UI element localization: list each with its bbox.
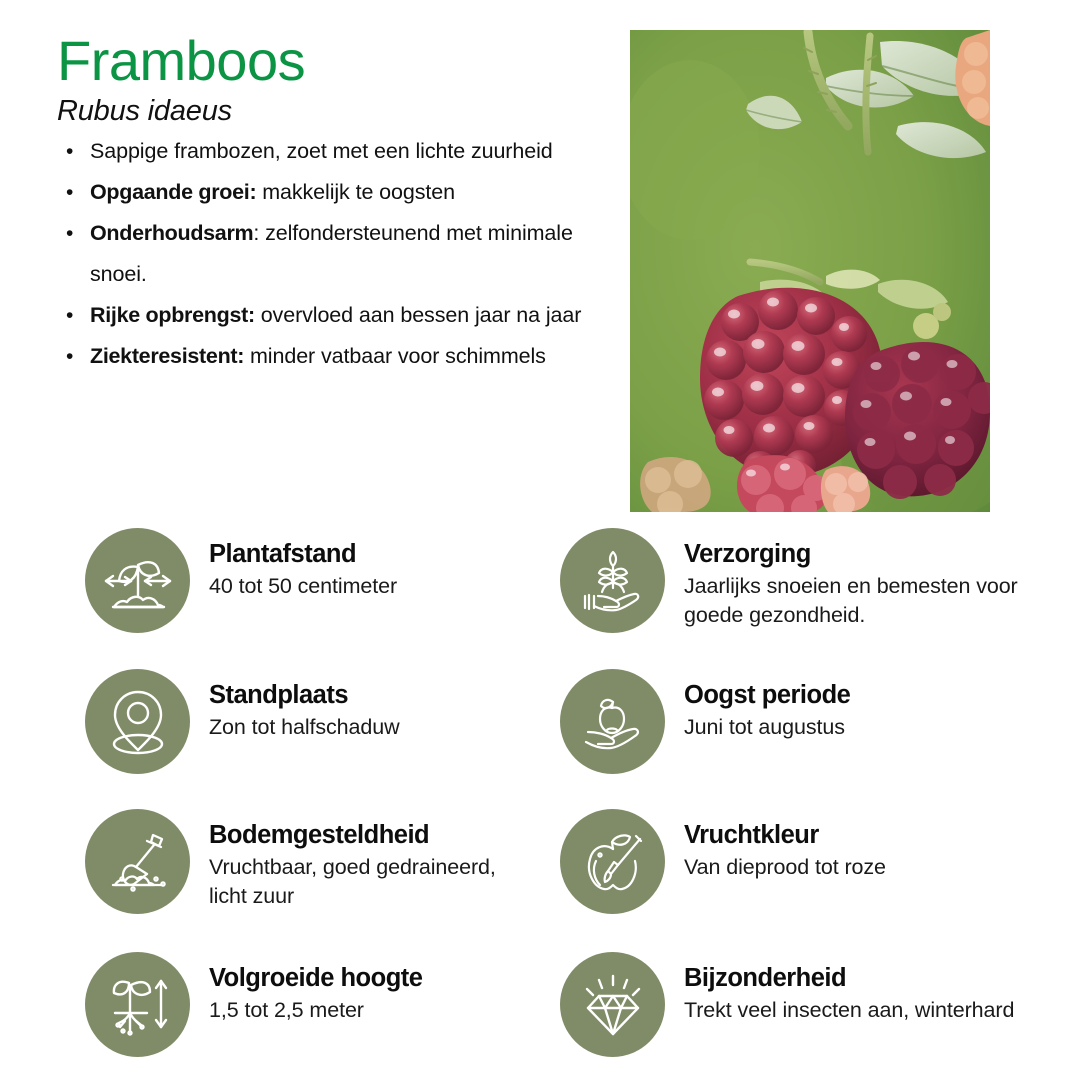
page-title: Framboos (57, 30, 617, 92)
list-item-text: overvloed aan bessen jaar na jaar (255, 303, 581, 327)
location-pin-icon (85, 669, 190, 774)
feature-title: Bijzonderheid (684, 963, 1014, 994)
feature-text: Plantafstand 40 tot 50 centimeter (209, 528, 397, 601)
botanical-name: Rubus idaeus (57, 92, 617, 130)
list-item: Ziekteresistent: minder vatbaar voor sch… (62, 336, 607, 377)
plant-height-icon (85, 952, 190, 1057)
feature-title: Oogst periode (684, 680, 850, 711)
feature-grid: Plantafstand 40 tot 50 centimeter Standp… (0, 524, 1080, 1080)
list-item-lead: Opgaande groei: (90, 180, 256, 204)
list-item-text: Sappige frambozen, zoet met een lichte z… (90, 139, 553, 163)
feature-title: Vruchtkleur (684, 820, 886, 851)
feature-title: Standplaats (209, 680, 400, 711)
list-item-lead: Rijke opbrengst: (90, 303, 255, 327)
plant-photo (630, 30, 990, 512)
list-item: Opgaande groei: makkelijk te oogsten (62, 172, 607, 213)
highlight-list: Sappige frambozen, zoet met een lichte z… (62, 131, 607, 377)
diamond-sparkle-icon (560, 952, 665, 1057)
feature-title: Bodemgesteldheid (209, 820, 539, 851)
hand-plant-care-icon (560, 528, 665, 633)
feature-desc: 1,5 tot 2,5 meter (209, 996, 422, 1025)
feature-text: Volgroeide hoogte 1,5 tot 2,5 meter (209, 952, 422, 1025)
feature-title: Plantafstand (209, 539, 397, 570)
feature-bodemgesteldheid: Bodemgesteldheid Vruchtbaar, goed gedrai… (85, 809, 539, 914)
feature-plantafstand: Plantafstand 40 tot 50 centimeter (85, 528, 397, 633)
feature-desc: Jaarlijks snoeien en bemesten voor goede… (684, 572, 1054, 630)
feature-text: Bijzonderheid Trekt veel insecten aan, w… (684, 952, 1014, 1025)
feature-desc: Juni tot augustus (684, 713, 850, 742)
feature-desc: Van dieprood tot roze (684, 853, 886, 882)
apple-paintbrush-icon (560, 809, 665, 914)
feature-desc: 40 tot 50 centimeter (209, 572, 397, 601)
list-item: Onderhoudsarm: zelfondersteunend met min… (62, 213, 607, 295)
feature-text: Verzorging Jaarlijks snoeien en bemesten… (684, 528, 1054, 630)
feature-volgroeide-hoogte: Volgroeide hoogte 1,5 tot 2,5 meter (85, 952, 422, 1057)
feature-oogst-periode: Oogst periode Juni tot augustus (560, 669, 850, 774)
feature-title: Verzorging (684, 539, 1054, 570)
feature-standplaats: Standplaats Zon tot halfschaduw (85, 669, 400, 774)
feature-verzorging: Verzorging Jaarlijks snoeien en bemesten… (560, 528, 1054, 633)
list-item-lead: Onderhoudsarm (90, 221, 253, 245)
seedling-spacing-icon (85, 528, 190, 633)
feature-text: Oogst periode Juni tot augustus (684, 669, 850, 742)
hand-fruit-harvest-icon (560, 669, 665, 774)
list-item-lead: Ziekteresistent: (90, 344, 244, 368)
list-item-text: minder vatbaar voor schimmels (244, 344, 546, 368)
plant-header: Framboos Rubus idaeus (57, 30, 617, 130)
feature-bijzonderheid: Bijzonderheid Trekt veel insecten aan, w… (560, 952, 1014, 1057)
list-item: Rijke opbrengst: overvloed aan bessen ja… (62, 295, 607, 336)
shovel-soil-icon (85, 809, 190, 914)
list-item-text: makkelijk te oogsten (256, 180, 455, 204)
list-item: Sappige frambozen, zoet met een lichte z… (62, 131, 607, 172)
feature-text: Standplaats Zon tot halfschaduw (209, 669, 400, 742)
feature-desc: Zon tot halfschaduw (209, 713, 400, 742)
plant-info-card: Framboos Rubus idaeus Sappige frambozen,… (0, 0, 1080, 1080)
feature-desc: Trekt veel insecten aan, winterhard (684, 996, 1014, 1025)
feature-title: Volgroeide hoogte (209, 963, 422, 994)
feature-desc: Vruchtbaar, goed gedraineerd, licht zuur (209, 853, 539, 911)
feature-text: Vruchtkleur Van dieprood tot roze (684, 809, 886, 882)
feature-text: Bodemgesteldheid Vruchtbaar, goed gedrai… (209, 809, 539, 911)
feature-vruchtkleur: Vruchtkleur Van dieprood tot roze (560, 809, 886, 914)
